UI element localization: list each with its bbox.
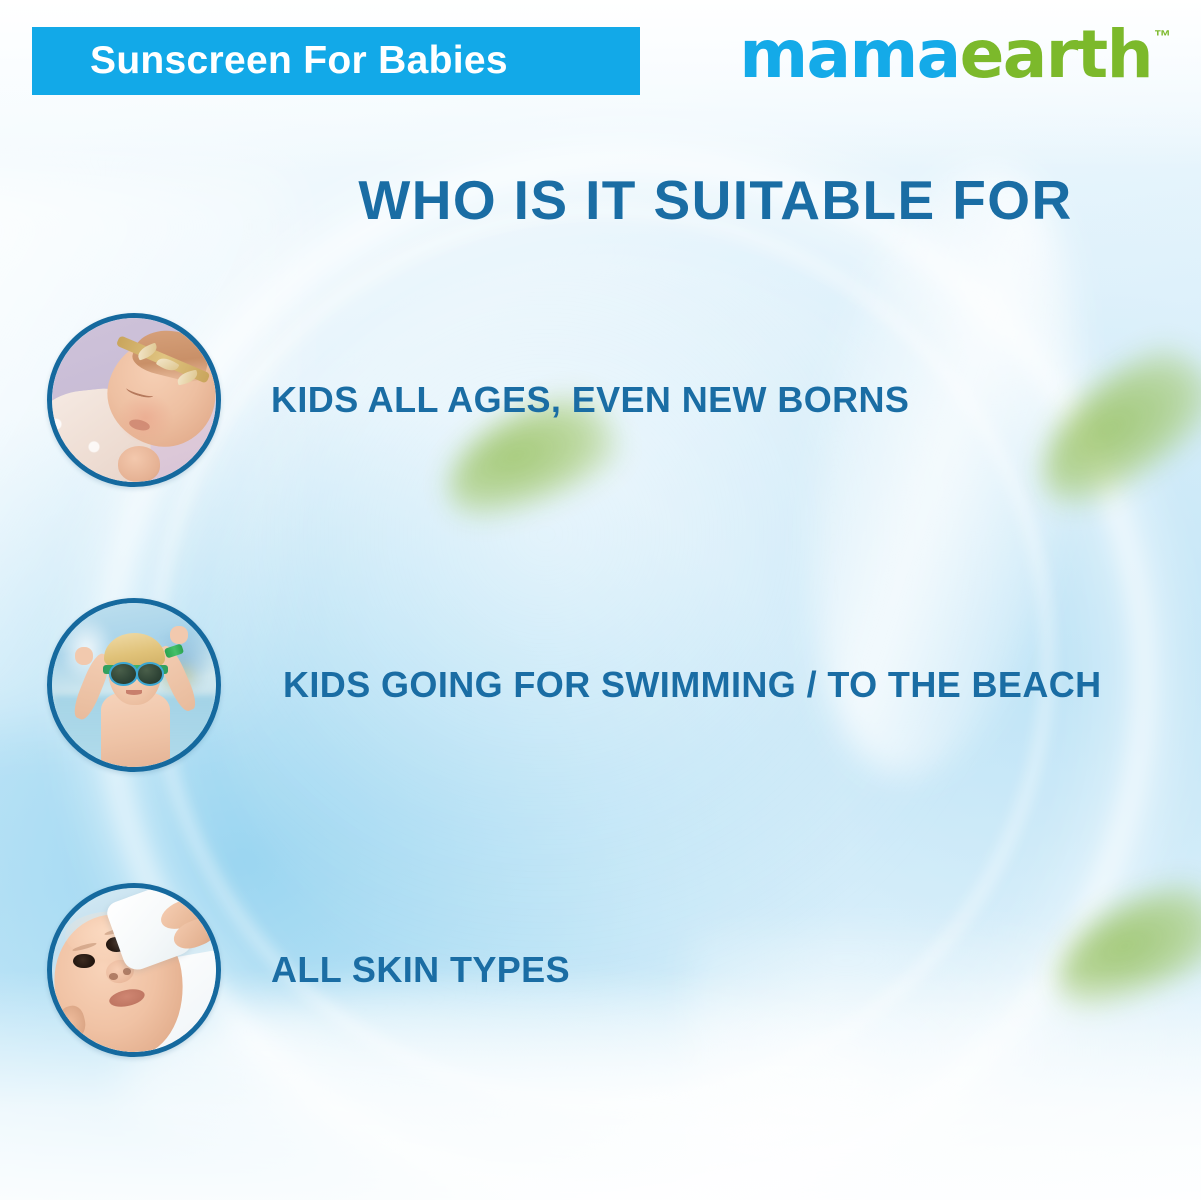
boy-swimming-goggles-photo — [47, 598, 221, 772]
feature-row: KIDS GOING FOR SWIMMING / TO THE BEACH — [0, 598, 1201, 772]
feature-row: KIDS ALL AGES, EVEN NEW BORNS — [0, 313, 1201, 487]
product-category-label: Sunscreen For Babies — [90, 39, 508, 83]
feature-row-label: KIDS GOING FOR SWIMMING / TO THE BEACH — [283, 664, 1102, 706]
baby-face-wipe-photo — [47, 883, 221, 1057]
feature-row-label: ALL SKIN TYPES — [271, 949, 570, 991]
page-title-text: WHO IS IT SUITABLE FOR — [358, 168, 1072, 232]
brand-logo-earth-text: earth — [960, 22, 1152, 88]
feature-row-label: KIDS ALL AGES, EVEN NEW BORNS — [271, 379, 909, 421]
poster-canvas: Sunscreen For Babies mama earth ™ WHO IS… — [0, 0, 1201, 1200]
feature-row: ALL SKIN TYPES — [0, 883, 1201, 1057]
brand-logo-mama-text: mama — [739, 22, 959, 88]
page-title: WHO IS IT SUITABLE FOR — [0, 168, 1201, 232]
brand-logo: mama earth ™ — [739, 22, 1171, 88]
product-category-badge: Sunscreen For Babies — [32, 27, 640, 95]
sleeping-newborn-photo — [47, 313, 221, 487]
trademark-icon: ™ — [1154, 28, 1171, 45]
